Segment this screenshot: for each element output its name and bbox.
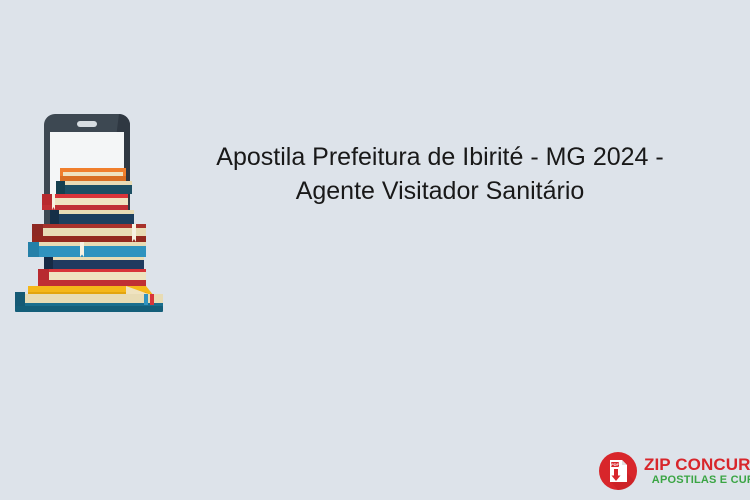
svg-text:PDF: PDF: [611, 462, 620, 467]
book-navy-1: [56, 181, 132, 194]
book-navy-2: [50, 210, 134, 224]
brand-text: ZIP CONCURSOS APOSTILAS E CURSOS: [644, 456, 750, 487]
book-navy-3: [44, 257, 144, 269]
book-base: [15, 292, 163, 312]
books-tablet-illustration: [8, 110, 173, 315]
promo-banner: Apostila Prefeitura de Ibirité - MG 2024…: [0, 0, 750, 500]
book-darkred: [32, 224, 146, 242]
book-orange-top: [60, 168, 126, 181]
brand-name: ZIP CONCURSOS: [644, 456, 750, 474]
brand-logo[interactable]: PDF ZIP CONCURSOS APOSTILAS E CURSOS: [598, 449, 746, 493]
book-red-2: [38, 269, 146, 286]
pdf-download-icon: PDF: [598, 451, 638, 491]
brand-tagline: APOSTILAS E CURSOS: [644, 474, 750, 487]
page-title: Apostila Prefeitura de Ibirité - MG 2024…: [175, 140, 705, 208]
book-red-1: [42, 194, 128, 210]
book-blue-1: [28, 242, 146, 257]
